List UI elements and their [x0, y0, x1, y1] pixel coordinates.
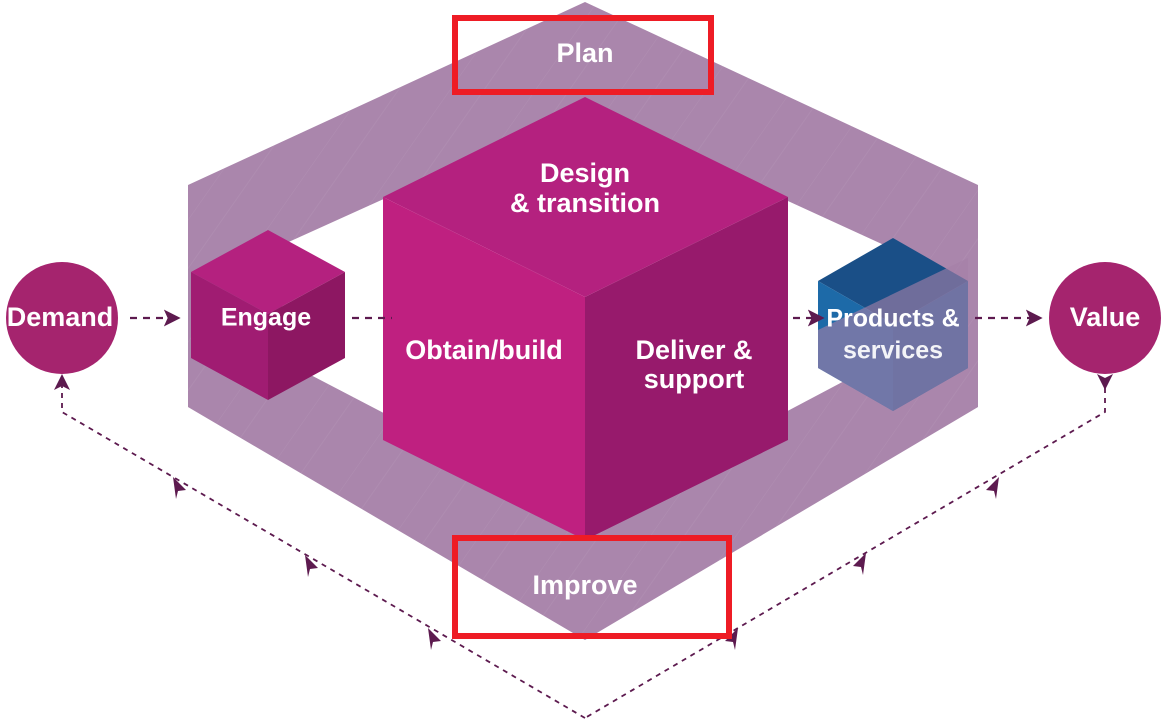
design-transition-label-line1: Design: [540, 158, 630, 188]
obtain-build-label: Obtain/build: [405, 335, 562, 365]
deliver-support-label-line1: Deliver &: [635, 335, 752, 365]
plan-section[interactable]: Plan: [556, 38, 613, 68]
improve-section[interactable]: Improve: [532, 570, 637, 600]
value-node[interactable]: Value: [1049, 262, 1161, 374]
products-services-label-line1: Products &: [826, 305, 959, 333]
engage-label: Engage: [221, 304, 311, 332]
deliver-support-label-line2: support: [644, 364, 745, 394]
value-label: Value: [1070, 302, 1141, 332]
plan-label: Plan: [556, 38, 613, 68]
demand-node[interactable]: Demand: [6, 262, 118, 374]
improve-label: Improve: [532, 570, 637, 600]
diagram-canvas: Engage Design & transition Obtain/build …: [0, 0, 1167, 720]
service-value-system-diagram: Engage Design & transition Obtain/build …: [0, 0, 1167, 720]
demand-label: Demand: [7, 302, 114, 332]
products-services-label-line2: services: [843, 337, 943, 365]
design-transition-label-line2: & transition: [510, 188, 660, 218]
